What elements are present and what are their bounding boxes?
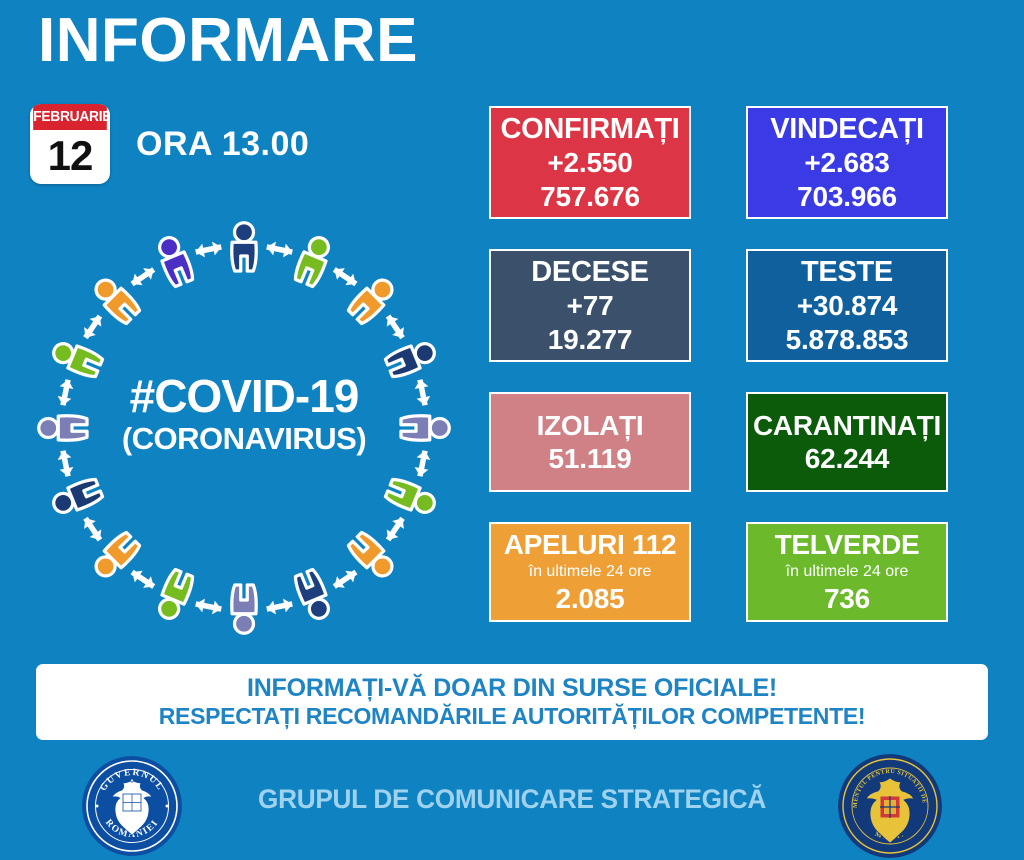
stat-label-carantinati: CARANTINAȚI — [753, 409, 941, 442]
distance-arrow-icon — [56, 449, 75, 477]
stat-label-izolati: IZOLAȚI — [537, 409, 644, 442]
date-row: FEBRUARIE 12 ORA 13.00 — [30, 104, 309, 184]
stat-total-apeluri112: 2.085 — [555, 582, 624, 616]
person-icon — [39, 416, 87, 440]
distance-arrow-icon — [128, 264, 157, 290]
distance-arrow-icon — [128, 566, 157, 592]
calendar-day-label: 12 — [30, 130, 110, 184]
stat-card-teste: TESTE+30.8745.878.853 — [746, 249, 948, 362]
person-icon — [154, 568, 195, 622]
distance-arrow-icon — [382, 312, 408, 341]
stat-label-decese: DECESE — [531, 255, 648, 289]
stat-sublabel-telverde: în ultimele 24 ore — [786, 562, 909, 582]
stat-card-telverde: TELVERDEîn ultimele 24 ore736 — [746, 522, 948, 622]
stat-label-confirmati: CONFIRMAȚI — [500, 112, 679, 146]
person-icon — [50, 338, 104, 379]
stat-total-telverde: 736 — [824, 582, 870, 616]
page-title: INFORMARE — [38, 8, 418, 73]
person-icon — [384, 477, 438, 518]
calendar-icon: FEBRUARIE 12 — [30, 104, 110, 184]
distance-arrow-icon — [330, 566, 359, 592]
distance-arrow-icon — [80, 514, 106, 543]
stat-label-apeluri112: APELURI 112 — [504, 528, 677, 561]
person-icon — [293, 234, 334, 288]
distance-arrow-icon — [413, 378, 432, 406]
person-icon — [232, 585, 256, 633]
person-icon — [401, 416, 449, 440]
people-ring — [39, 223, 450, 634]
person-icon — [384, 338, 438, 379]
distance-arrow-icon — [265, 597, 293, 616]
stat-delta-vindecati: +2.683 — [804, 146, 889, 180]
person-icon — [232, 223, 256, 271]
stat-card-confirmati: CONFIRMAȚI+2.550757.676 — [489, 106, 691, 219]
stat-label-telverde: TELVERDE — [775, 528, 920, 561]
distance-arrow-icon — [330, 264, 359, 290]
stat-card-carantinati: CARANTINAȚI62.244 — [746, 392, 948, 492]
stat-total-izolati: 51.119 — [549, 442, 632, 476]
people-distancing-circle-icon: #COVID-19 (CORONAVIRUS) — [24, 212, 464, 642]
distance-arrow-icon — [56, 378, 75, 406]
guvernul-romaniei-seal-icon: GUVERNUL ROMÂNIEI — [82, 756, 182, 856]
stat-total-teste: 5.878.853 — [786, 323, 909, 357]
person-icon — [154, 234, 195, 288]
stat-total-confirmati: 757.676 — [540, 180, 640, 214]
distance-arrow-icon — [265, 240, 293, 259]
distance-arrow-icon — [80, 312, 106, 341]
hour-label: ORA 13.00 — [136, 125, 309, 164]
stat-card-decese: DECESE+7719.277 — [489, 249, 691, 362]
stat-card-izolati: IZOLAȚI51.119 — [489, 392, 691, 492]
stat-sublabel-apeluri112: în ultimele 24 ore — [529, 562, 652, 582]
distance-arrow-icon — [194, 597, 222, 616]
distance-arrow-icon — [413, 449, 432, 477]
stat-delta-confirmati: +2.550 — [547, 146, 632, 180]
stat-label-teste: TESTE — [801, 255, 893, 289]
distance-arrow-icon — [194, 240, 222, 259]
stat-delta-teste: +30.874 — [797, 289, 898, 323]
stat-total-carantinati: 62.244 — [805, 442, 889, 476]
stat-delta-decese: +77 — [567, 289, 614, 323]
stat-card-apeluri112: APELURI 112în ultimele 24 ore2.085 — [489, 522, 691, 622]
person-icon — [293, 568, 334, 622]
departamentul-situatii-urgenta-seal-icon: DEPARTAMENTUL PENTRU SITUAȚII DE URGENȚĂ… — [838, 754, 942, 858]
stat-label-vindecati: VINDECAȚI — [770, 112, 924, 146]
stat-total-vindecati: 703.966 — [797, 180, 897, 214]
official-sources-notice: INFORMAȚI-VĂ DOAR DIN SURSE OFICIALE! RE… — [36, 664, 988, 740]
notice-line-1: INFORMAȚI-VĂ DOAR DIN SURSE OFICIALE! — [247, 674, 777, 703]
person-icon — [50, 477, 104, 518]
calendar-month-label: FEBRUARIE — [33, 104, 107, 130]
stat-card-vindecati: VINDECAȚI+2.683703.966 — [746, 106, 948, 219]
notice-line-2: RESPECTAȚI RECOMANDĂRILE AUTORITĂȚILOR C… — [159, 703, 866, 731]
distance-arrow-icon — [382, 514, 408, 543]
stat-total-decese: 19.277 — [548, 323, 632, 357]
